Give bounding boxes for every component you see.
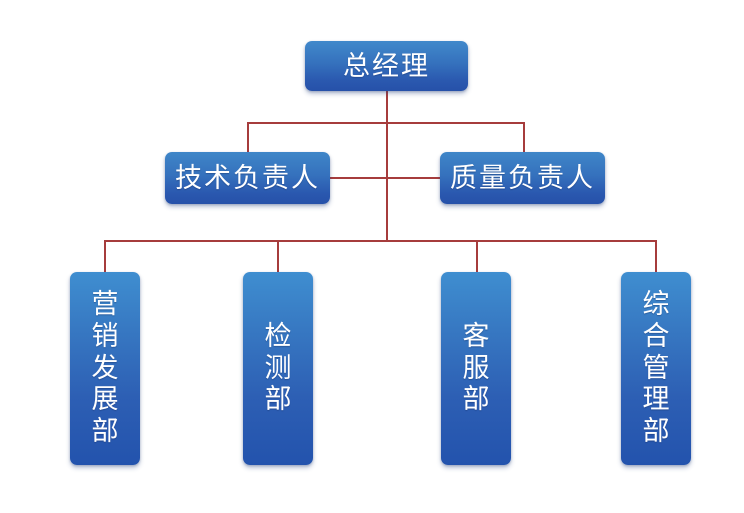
connector-drop-quality-director (523, 122, 525, 152)
node-label-char: 检 (265, 321, 292, 353)
node-label-char: 服 (463, 353, 490, 385)
node-general-manager[interactable]: 总经理 (305, 41, 468, 91)
connector-level3-bus (104, 240, 657, 242)
node-label-char: 部 (643, 416, 670, 448)
node-label-char: 管 (643, 353, 670, 385)
node-general-management-dept[interactable]: 综 合 管 理 部 (621, 272, 691, 465)
node-label-char: 发 (92, 353, 119, 385)
connector-drop-marketing-development-dept (104, 240, 106, 272)
node-label-char: 综 (643, 289, 670, 321)
node-label-quality-director: 质量负责人 (450, 165, 595, 192)
node-label-char: 客 (463, 321, 490, 353)
node-label-char: 部 (463, 384, 490, 416)
node-label-char: 销 (92, 321, 119, 353)
node-label-char: 营 (92, 289, 119, 321)
node-testing-dept[interactable]: 检 测 部 (243, 272, 313, 465)
node-label-char: 合 (643, 321, 670, 353)
connector-stub-quality-director (386, 177, 440, 179)
node-quality-director[interactable]: 质量负责人 (440, 152, 605, 204)
node-label-char: 测 (265, 353, 292, 385)
connector-level2-bus (247, 122, 525, 124)
node-technical-director[interactable]: 技术负责人 (165, 152, 330, 204)
node-marketing-development-dept[interactable]: 营 销 发 展 部 (70, 272, 140, 465)
connector-drop-customer-service-dept (476, 240, 478, 272)
node-label-technical-director: 技术负责人 (175, 165, 320, 192)
connector-drop-general-management-dept (655, 240, 657, 272)
connector-trunk-vertical (386, 90, 388, 242)
node-label-char: 理 (643, 384, 670, 416)
node-label-char: 展 (92, 384, 119, 416)
node-customer-service-dept[interactable]: 客 服 部 (441, 272, 511, 465)
connector-stub-technical-director (330, 177, 387, 179)
connector-drop-technical-director (247, 122, 249, 152)
connector-drop-testing-dept (277, 240, 279, 272)
org-chart: 总经理 技术负责人 质量负责人 营 销 发 展 部 检 测 部 客 服 部 综 … (0, 0, 744, 513)
node-label-general-manager: 总经理 (343, 53, 430, 80)
node-label-char: 部 (92, 416, 119, 448)
node-label-char: 部 (265, 384, 292, 416)
